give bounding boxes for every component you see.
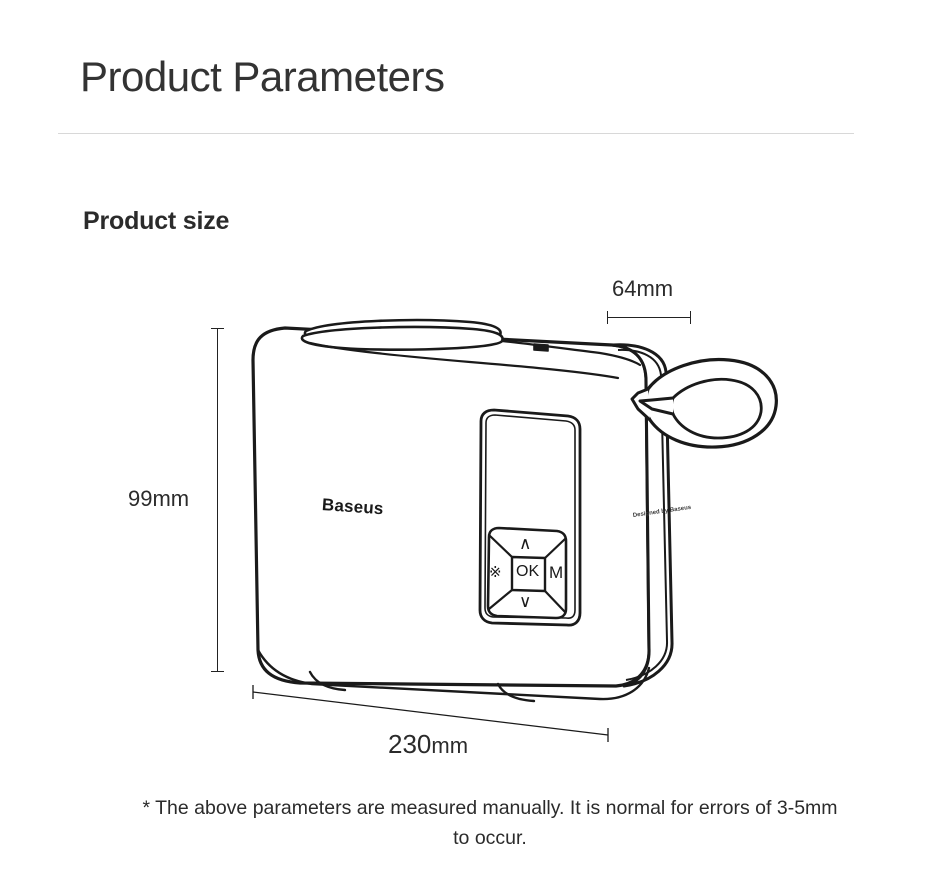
product-parameters-page: Product Parameters Product size 64mm 99m… (0, 0, 930, 876)
dpad-ok-label[interactable]: OK (516, 563, 539, 581)
dpad-up-label[interactable]: ∧ (519, 534, 531, 554)
brand-wordmark: Baseus (321, 495, 384, 519)
dpad-down-label[interactable]: ∨ (519, 592, 531, 612)
device-body (253, 328, 649, 686)
dpad-mode-label[interactable]: M (549, 563, 563, 583)
product-illustration (0, 0, 930, 876)
wireless-charging-tray (302, 320, 503, 350)
dpad-brightness-icon[interactable]: ※ (489, 563, 502, 581)
top-button-nub (534, 344, 548, 351)
footnote-text: * The above parameters are measured manu… (140, 793, 840, 853)
carry-strap-inner (672, 379, 762, 438)
dimension-line-width (253, 685, 608, 742)
